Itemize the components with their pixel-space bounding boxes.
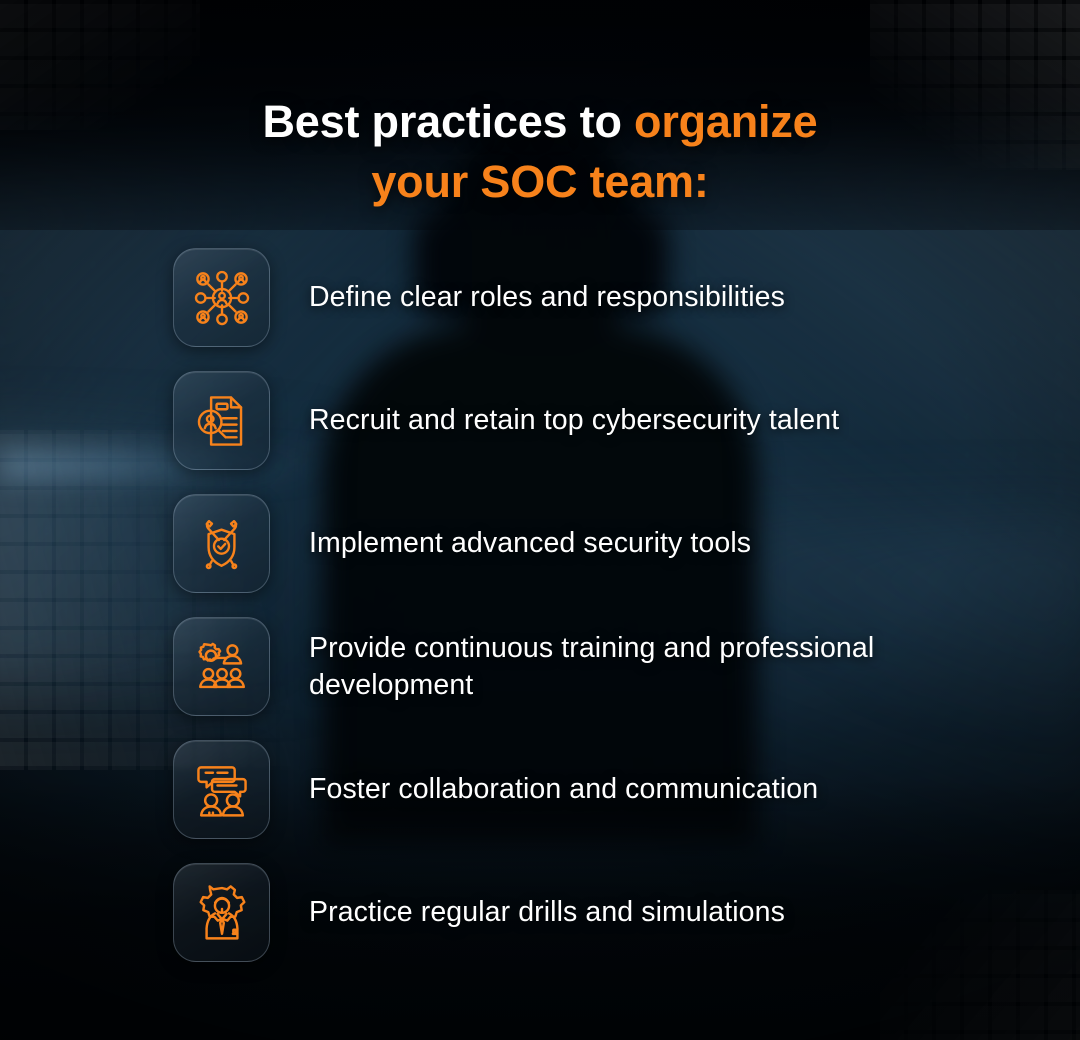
- icon-tile: [173, 863, 270, 962]
- headline-accent-soc-team: your SOC team:: [371, 156, 708, 207]
- icon-tile: [173, 617, 270, 716]
- icon-tile: [173, 248, 270, 347]
- icon-tile: [173, 740, 270, 839]
- list-item-label: Recruit and retain top cybersecurity tal…: [309, 402, 839, 439]
- infographic-poster: Best practices to organize your SOC team…: [0, 0, 1080, 1040]
- chat-collaboration-icon: [193, 761, 251, 819]
- headline-plain-text: Best practices to: [263, 96, 635, 147]
- list-item: Define clear roles and responsibilities: [0, 236, 1080, 359]
- list-item: Practice regular drills and simulations: [0, 851, 1080, 974]
- page-title: Best practices to organize your SOC team…: [0, 92, 1080, 212]
- icon-tile: [173, 371, 270, 470]
- list-item: Foster collaboration and communication: [0, 728, 1080, 851]
- list-item-label: Foster collaboration and communication: [309, 771, 818, 808]
- gear-training-group-icon: [193, 638, 251, 696]
- people-network-icon: [193, 269, 251, 327]
- list-item-label: Provide continuous training and professi…: [309, 630, 999, 704]
- best-practices-list: Define clear roles and responsibilities: [0, 236, 1080, 974]
- shield-tools-icon: [193, 515, 250, 572]
- list-item-label: Define clear roles and responsibilities: [309, 279, 785, 316]
- icon-tile: [173, 494, 270, 593]
- list-item-label: Practice regular drills and simulations: [309, 894, 785, 931]
- list-item-label: Implement advanced security tools: [309, 525, 751, 562]
- resume-search-icon: [193, 392, 251, 450]
- gear-professional-icon: [193, 884, 251, 942]
- headline-accent-organize: organize: [634, 96, 817, 147]
- list-item: Provide continuous training and professi…: [0, 605, 1080, 728]
- list-item: Implement advanced security tools: [0, 482, 1080, 605]
- list-item: Recruit and retain top cybersecurity tal…: [0, 359, 1080, 482]
- poster-content: Best practices to organize your SOC team…: [0, 0, 1080, 1040]
